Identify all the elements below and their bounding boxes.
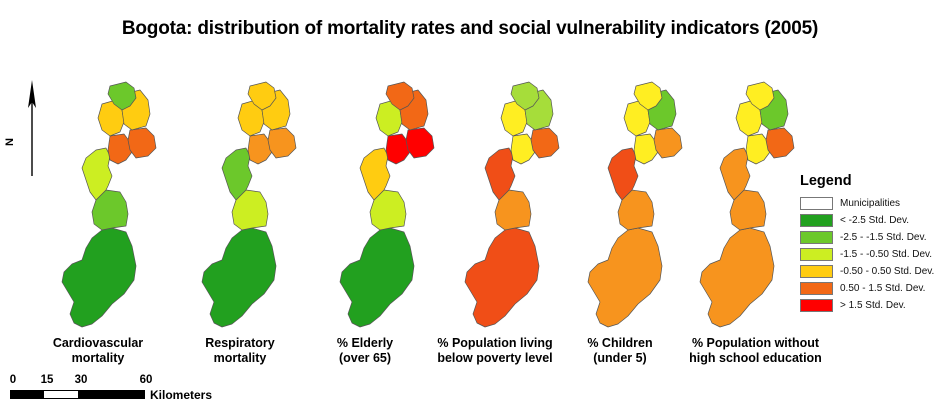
map-panel-cardiovascular-mortality[interactable] [52,80,184,330]
choropleth-map [455,80,587,330]
scale-bar-graphic [10,390,145,399]
map-region[interactable] [128,128,156,158]
scale-tick-3: 60 [140,374,153,386]
legend-item-class-6[interactable]: > 1.5 Std. Dev. [800,297,936,314]
map-region[interactable] [588,228,662,327]
scale-tick-1: 15 [41,374,54,386]
legend-swatch [800,282,833,295]
map-panel-respiratory-mortality[interactable] [192,80,324,330]
map-region[interactable] [531,128,559,158]
map-label-education: % Population without high school educati… [648,336,863,366]
legend: Legend Municipalities < -2.5 Std. Dev. -… [800,173,936,314]
legend-item-class-2[interactable]: -2.5 - -1.5 Std. Dev. [800,229,936,246]
map-label-line2: mortality [18,351,178,366]
scale-bar-segment [44,391,77,398]
legend-item-label: Municipalities [840,198,900,209]
legend-swatch [800,265,833,278]
legend-item-label: -2.5 - -1.5 Std. Dev. [840,232,927,243]
legend-item-municipalities[interactable]: Municipalities [800,195,936,212]
north-arrow-label: N [4,138,16,146]
map-label-line1: % Population without [648,336,863,351]
scale-bar-segment [11,391,44,398]
choropleth-map [330,80,462,330]
map-panel-poverty[interactable] [455,80,587,330]
legend-item-label: -1.5 - -0.50 Std. Dev. [840,249,932,260]
map-region[interactable] [202,228,276,327]
scale-tick-0: 0 [10,374,16,386]
map-region[interactable] [465,228,539,327]
legend-item-class-1[interactable]: < -2.5 Std. Dev. [800,212,936,229]
choropleth-map [52,80,184,330]
map-region[interactable] [340,228,414,327]
map-label-line2: high school education [648,351,863,366]
north-arrow: N [10,78,54,178]
map-region[interactable] [406,128,434,158]
legend-item-label: 0.50 - 1.5 Std. Dev. [840,283,925,294]
map-region[interactable] [700,228,774,327]
map-region[interactable] [654,128,682,158]
legend-item-class-4[interactable]: -0.50 - 0.50 Std. Dev. [800,263,936,280]
legend-item-label: > 1.5 Std. Dev. [840,300,906,311]
map-panel-elderly[interactable] [330,80,462,330]
choropleth-map [192,80,324,330]
map-region[interactable] [62,228,136,327]
legend-swatch [800,197,833,210]
scale-bar-ticks: 0 15 30 60 [10,374,210,388]
legend-title: Legend [800,173,936,189]
legend-swatch [800,231,833,244]
scale-bar-units-label: Kilometers [150,388,212,402]
scale-bar-segment [78,391,145,398]
legend-item-label: < -2.5 Std. Dev. [840,215,909,226]
legend-swatch [800,214,833,227]
legend-item-label: -0.50 - 0.50 Std. Dev. [840,266,934,277]
scale-bar: 0 15 30 60 Kilometers [10,374,210,408]
scale-tick-2: 30 [75,374,88,386]
north-arrow-icon [10,78,54,178]
legend-item-class-3[interactable]: -1.5 - -0.50 Std. Dev. [800,246,936,263]
legend-swatch [800,248,833,261]
map-label-line1: Cardiovascular [18,336,178,351]
map-region[interactable] [766,128,794,158]
legend-item-class-5[interactable]: 0.50 - 1.5 Std. Dev. [800,280,936,297]
map-label-cardiovascular-mortality: Cardiovascular mortality [18,336,178,366]
map-region[interactable] [268,128,296,158]
page-title: Bogota: distribution of mortality rates … [0,18,940,40]
legend-swatch [800,299,833,312]
